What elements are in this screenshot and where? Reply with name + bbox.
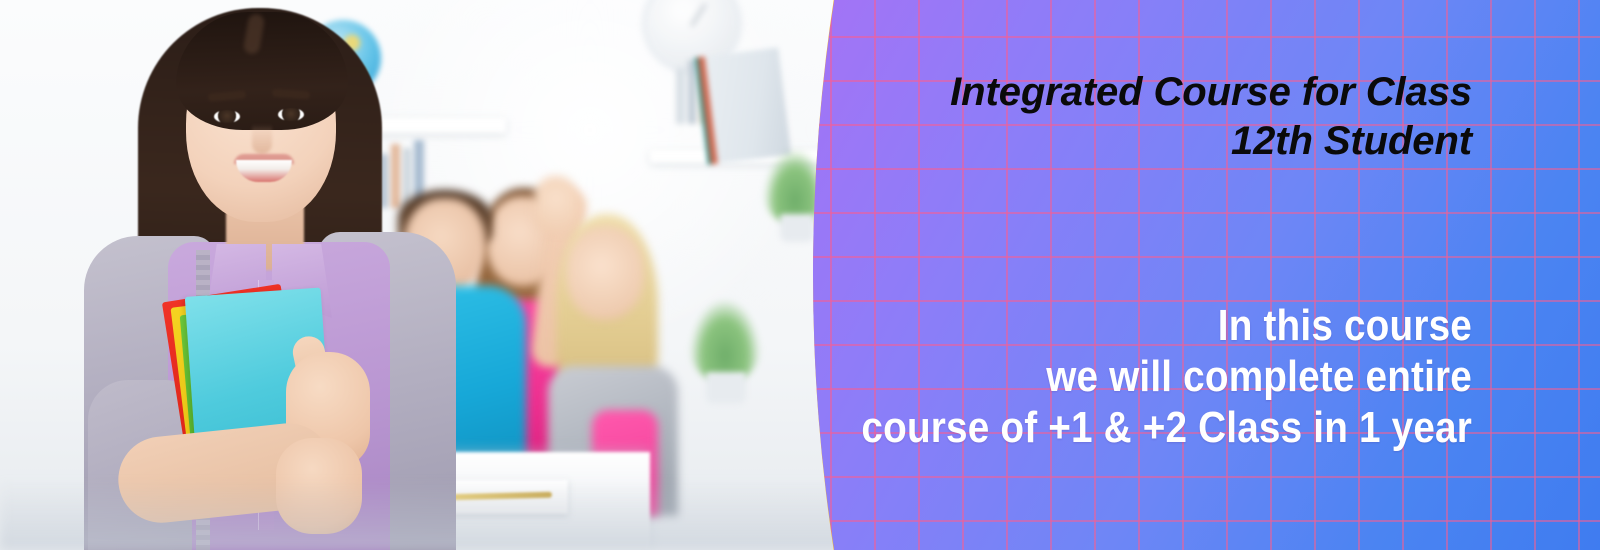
headline-line-2: 12th Student: [700, 117, 1472, 166]
floor-shadow: [0, 480, 860, 550]
plant-pot: [780, 214, 814, 242]
subhead-line-2: we will complete entire: [740, 351, 1472, 402]
banner-headline: Integrated Course for Class 12th Student: [700, 68, 1472, 166]
subhead-line-3: course of +1 & +2 Class in 1 year: [740, 402, 1472, 453]
course-promo-banner: Integrated Course for Class 12th Student…: [0, 0, 1600, 550]
student-girl-blonde-head: [566, 226, 644, 320]
headline-line-1: Integrated Course for Class: [700, 68, 1472, 117]
teacher-nose: [252, 124, 272, 154]
subhead-line-1: In this course: [740, 300, 1472, 351]
banner-subheadline: In this course we will complete entire c…: [740, 300, 1472, 453]
student-raised-hand: [534, 176, 578, 232]
teacher-eye-right: [278, 108, 304, 121]
teacher-eye-left: [214, 110, 240, 123]
